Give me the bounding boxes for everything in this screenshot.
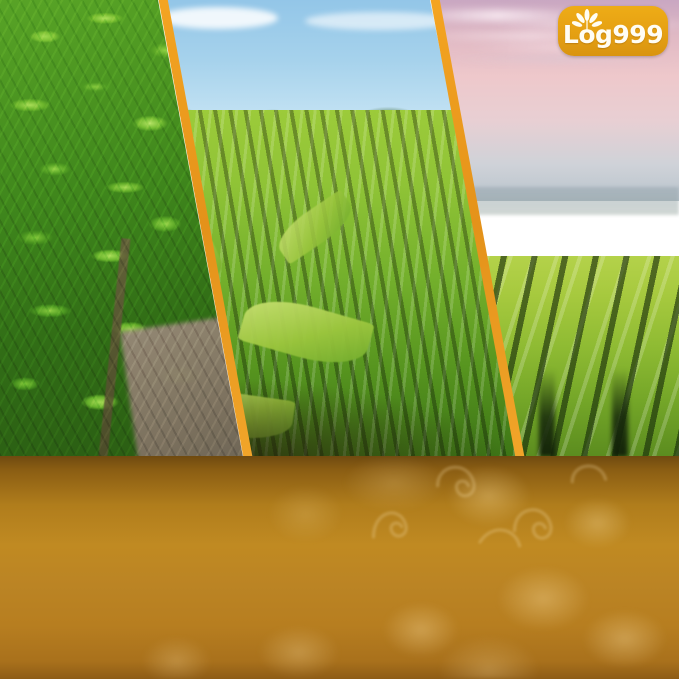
furrow bbox=[539, 369, 555, 457]
feature-band: HOW WE GROW OUR NATURAL INGREDIENTS Grow… bbox=[0, 456, 679, 679]
cloud bbox=[158, 7, 278, 29]
cloud bbox=[305, 12, 455, 30]
brand-name: Log999 bbox=[558, 21, 668, 49]
decorative-swirls bbox=[272, 460, 679, 563]
brand-logo[interactable]: Log999 bbox=[558, 6, 668, 56]
promo-banner: HOW WE GROW OUR NATURAL INGREDIENTS Grow… bbox=[0, 0, 679, 679]
furrow bbox=[612, 369, 628, 457]
cloud-streak bbox=[433, 56, 679, 62]
photo-strip bbox=[0, 0, 679, 457]
